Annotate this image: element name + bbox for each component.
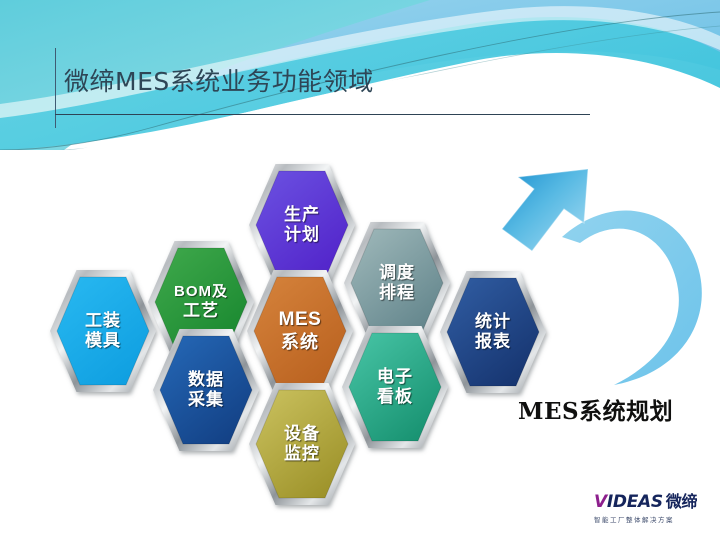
- company-logo: VIDEAS微缔 智能工厂整体解决方案: [594, 494, 714, 532]
- side-caption: MES系统规划: [518, 392, 673, 426]
- slide-canvas: 微缔MES系统业务功能领域 工装模具BOM及工: [0, 0, 720, 536]
- hexagon-diagram: 工装模具BOM及工艺生产计划MES系统数据采集设备监控调度排程电子看板统计报表: [0, 0, 720, 536]
- logo-tagline: 智能工厂整体解决方案: [594, 514, 714, 524]
- logo-wordmark: VIDEAS微缔: [594, 494, 714, 511]
- logo-ideas-text: IDEAS: [607, 492, 663, 512]
- hexagon-tooling[interactable]: 工装模具: [48, 268, 158, 394]
- hexagon-collect[interactable]: 数据采集: [151, 327, 261, 453]
- logo-chinese-text: 微缔: [666, 492, 697, 511]
- hexagon-mes[interactable]: MES系统: [245, 268, 355, 394]
- hexagon-reports[interactable]: 统计报表: [438, 269, 548, 395]
- logo-letter-v: V: [594, 492, 607, 512]
- hexagon-kanban[interactable]: 电子看板: [340, 324, 450, 450]
